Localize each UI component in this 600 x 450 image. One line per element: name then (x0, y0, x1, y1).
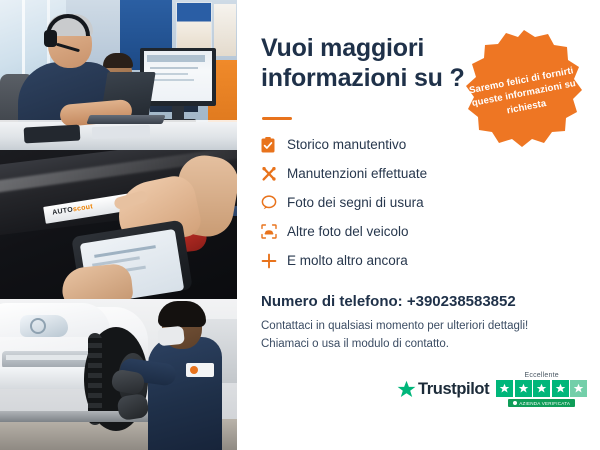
speech-bubble-icon (261, 195, 287, 210)
mechanic-body (148, 337, 222, 450)
contact-line-1: Contattaci in qualsiasi momento per ulte… (261, 320, 528, 332)
desk-keyboard (92, 125, 150, 139)
mechanic-face-mask (157, 326, 185, 347)
trustpilot-widget[interactable]: Trustpilot Eccellente (397, 372, 587, 407)
mechanic-hair (158, 301, 206, 327)
title-divider (262, 117, 292, 120)
sticker-text-b: scout (72, 203, 93, 213)
clipboard-check-icon (261, 137, 287, 153)
feature-item-manutenzioni: Manutenzioni effettuate (261, 159, 581, 188)
headlight-ring (30, 318, 46, 334)
screen-row (150, 79, 194, 81)
feature-item-foto-usura: Foto dei segni di usura (261, 188, 581, 217)
car-grille-slat (6, 355, 92, 360)
wall-poster (176, 2, 212, 50)
trustpilot-logo: Trustpilot (397, 380, 489, 399)
phone-number[interactable]: +390238583852 (407, 293, 516, 310)
mechanic-wheel-photo (0, 299, 237, 450)
laptop-keyboard (86, 115, 165, 124)
star-filled (533, 380, 550, 397)
plus-icon (261, 253, 287, 269)
photo-column: AUTOscout (0, 0, 237, 450)
verified-company-badge: AZIENDA VERIFICATA (508, 399, 575, 407)
star-filled (515, 380, 532, 397)
trustpilot-rating: Eccellente (496, 372, 587, 407)
wrench-cross-icon (261, 166, 287, 182)
phone-label: Numero di telefono: (261, 293, 403, 310)
feature-label: Manutenzioni effettuate (287, 166, 427, 181)
feature-label: E molto altro ancora (287, 253, 408, 268)
screen-row (150, 73, 188, 75)
car-inspection-photo: AUTOscout (0, 150, 237, 299)
star-filled (552, 380, 569, 397)
contact-line-2: Chiamaci o usa il modulo di contatto. (261, 338, 449, 350)
sticker-text-a: AUTO (52, 206, 74, 216)
screen-toolbar (147, 55, 205, 62)
star-partial (570, 380, 587, 397)
feature-label: Foto dei segni di usura (287, 195, 424, 210)
promo-banner: AUTOscout (0, 0, 600, 450)
feature-item-altro: E molto altro ancora (261, 246, 581, 275)
uniform-logo-mark (190, 366, 198, 374)
feature-label: Storico manutentivo (287, 137, 406, 152)
page-title: Vuoi maggiori informazioni su ? (261, 34, 471, 93)
trustpilot-star-icon (397, 380, 416, 399)
feature-item-altre-foto: Altre foto del veicolo (261, 217, 581, 246)
phone-line: Numero di telefono: +390238583852 (261, 293, 516, 310)
headset-earcup (44, 30, 57, 47)
headset-icon (450, 28, 476, 50)
star-filled (496, 380, 513, 397)
desk-tablet (24, 125, 81, 144)
rating-label: Eccellente (525, 372, 559, 379)
call-center-photo (0, 0, 237, 150)
feature-item-storico: Storico manutentivo (261, 130, 581, 159)
feature-list: Storico manutentivo Manutenzioni effettu… (261, 130, 581, 275)
star-rating (496, 380, 587, 397)
verified-check-icon (513, 401, 517, 405)
feature-label: Altre foto del veicolo (287, 224, 409, 239)
screen-row (150, 67, 198, 69)
photo-frame-icon (261, 224, 287, 239)
verified-label: AZIENDA VERIFICATA (519, 401, 570, 406)
colleague-hair (103, 53, 133, 68)
wall-poster (214, 4, 236, 56)
trustpilot-wordmark: Trustpilot (418, 380, 489, 399)
info-panel: Vuoi maggiori informazioni su ? Saremo f… (237, 0, 600, 450)
